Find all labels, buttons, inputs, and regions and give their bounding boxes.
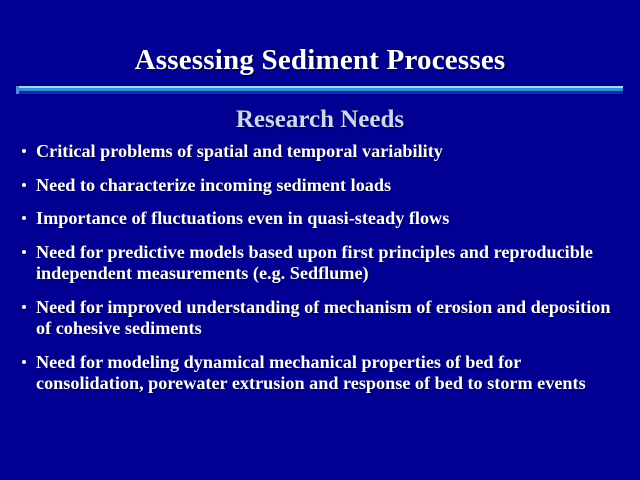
- divider-highlight-line: [16, 86, 623, 88]
- bullet-dot-icon: [22, 250, 26, 254]
- divider-left-cap: [16, 86, 19, 94]
- list-item-label: Need for modeling dynamical mechanical p…: [36, 352, 626, 395]
- list-item-label: Need to characterize incoming sediment l…: [36, 175, 626, 197]
- list-item: Need for modeling dynamical mechanical p…: [20, 352, 626, 395]
- slide-subtitle: Research Needs: [0, 106, 640, 134]
- divider-mid-line: [16, 88, 623, 91]
- bullet-list: Critical problems of spatial and tempora…: [20, 141, 626, 395]
- list-item-label: Critical problems of spatial and tempora…: [36, 141, 626, 163]
- page-title: Assessing Sediment Processes: [0, 43, 640, 77]
- title-underline-bar: [16, 86, 623, 94]
- divider-shadow-line: [16, 91, 623, 94]
- list-item: Importance of fluctuations even in quasi…: [20, 208, 626, 230]
- list-item: Need to characterize incoming sediment l…: [20, 175, 626, 197]
- bullet-dot-icon: [22, 149, 26, 153]
- bullet-dot-icon: [22, 183, 26, 187]
- presentation-slide: Assessing Sediment Processes Research Ne…: [0, 0, 640, 480]
- list-item-label: Importance of fluctuations even in quasi…: [36, 208, 626, 230]
- list-item-label: Need for improved understanding of mecha…: [36, 297, 626, 340]
- list-item: Need for improved understanding of mecha…: [20, 297, 626, 340]
- list-item: Critical problems of spatial and tempora…: [20, 141, 626, 163]
- list-item: Need for predictive models based upon fi…: [20, 242, 626, 285]
- bullet-dot-icon: [22, 360, 26, 364]
- bullet-dot-icon: [22, 216, 26, 220]
- bullet-dot-icon: [22, 305, 26, 309]
- list-item-label: Need for predictive models based upon fi…: [36, 242, 626, 285]
